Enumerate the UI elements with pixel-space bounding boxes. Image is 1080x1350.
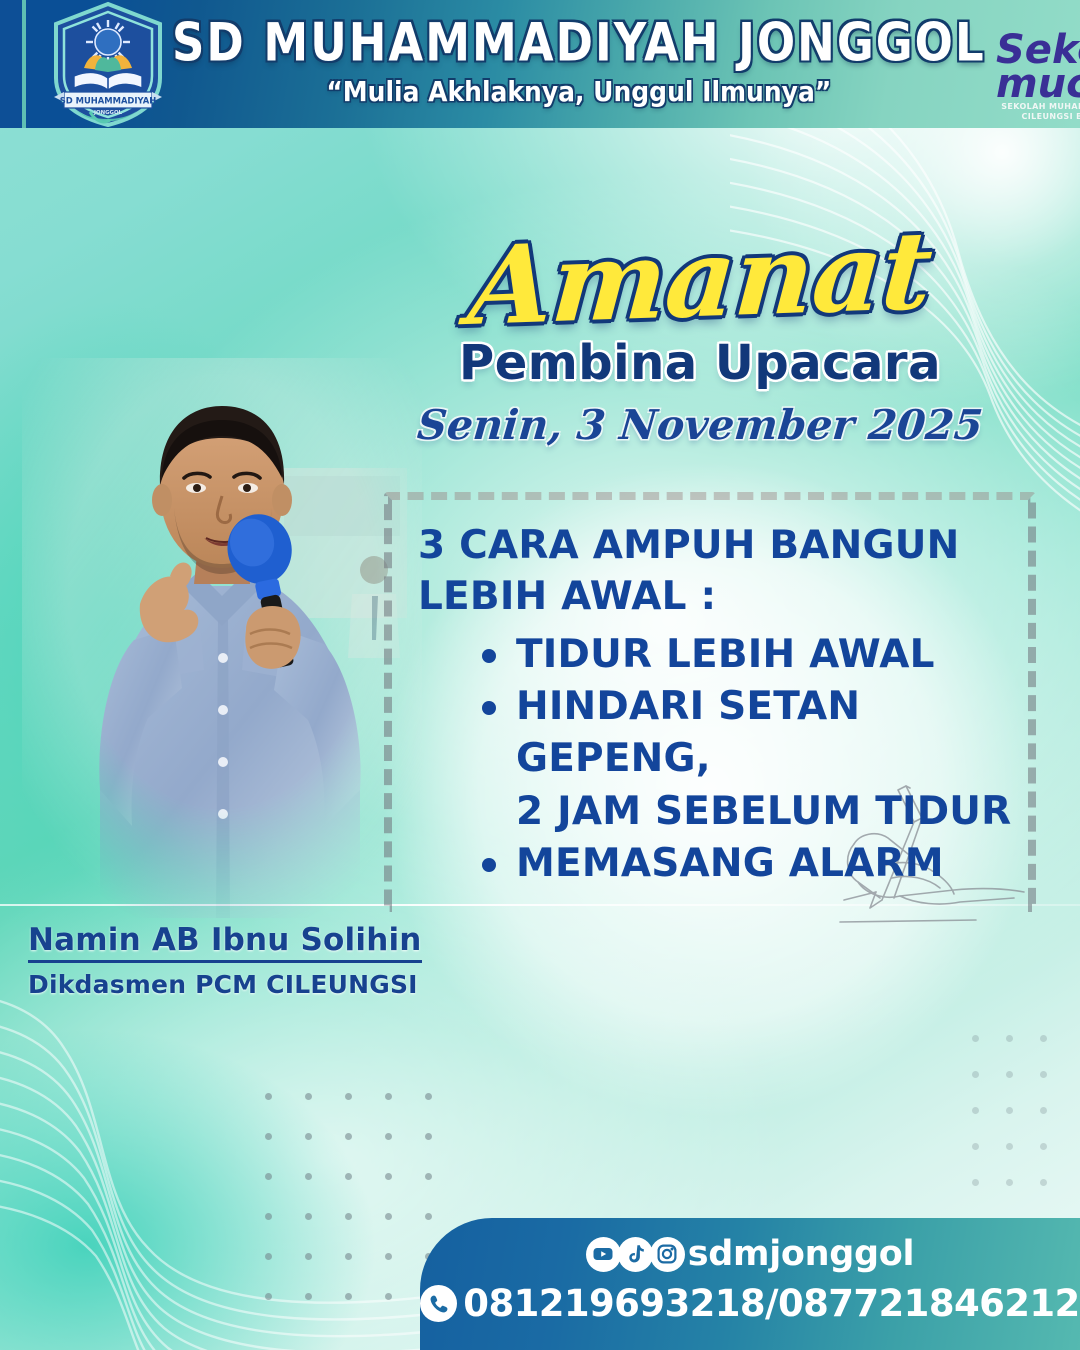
speaker-credit: Namin AB Ibnu Solihin Dikdasmen PCM CILE… (28, 922, 422, 999)
list-item-text: TIDUR LEBIH AWAL (516, 632, 935, 677)
muci-word-bottom: muci (996, 61, 1080, 107)
speaker-photo (22, 358, 422, 918)
header-left-accent (22, 0, 26, 128)
footer-contact-panel: sdmjonggol 081219693218/087721846212 (420, 1218, 1080, 1350)
list-item-continuation: 2 JAM SEBELUM TIDUR (516, 786, 1018, 838)
crest-label: SD MUHAMMADIYAH (60, 96, 157, 106)
message-heading-line-1: 3 CARA AMPUH BANGUN (418, 520, 1018, 571)
halftone-dots-right (972, 1035, 1072, 1225)
crest-sublabel: JONGGOL (93, 110, 123, 116)
title-script-amanat: Amanat (395, 215, 1004, 344)
list-item: TIDUR LEBIH AWAL (480, 629, 1018, 681)
message-heading-line-2: LEBIH AWAL : (418, 571, 1018, 622)
bullet-icon (482, 858, 496, 872)
title-block: Amanat Pembina Upacara Senin, 3 November… (400, 225, 1000, 446)
social-icon-group[interactable] (586, 1237, 682, 1272)
tiktok-icon[interactable] (618, 1237, 653, 1272)
message-block: 3 CARA AMPUH BANGUN LEBIH AWAL : TIDUR L… (418, 520, 1018, 890)
phone-icon[interactable] (420, 1285, 457, 1322)
bullet-icon (482, 701, 496, 715)
school-name: SD MUHAMMADIYAH JONGGOL (172, 17, 986, 70)
speaker-name: Namin AB Ibnu Solihin (28, 922, 422, 963)
muci-caption-1: SEKOLAH MUHAMMADIYAH (1001, 102, 1080, 111)
school-motto: “Mulia Akhlaknya, Unggul Ilmunya” (172, 77, 986, 107)
bullet-icon (482, 649, 496, 663)
footer-phone-row: 081219693218/087721846212 (420, 1282, 1080, 1325)
header-left-stripe (0, 0, 22, 128)
list-item-text: HINDARI SETAN GEPENG, (516, 684, 860, 781)
muci-caption-2: CILEUNGSI BOGOR (1021, 112, 1080, 121)
list-item: HINDARI SETAN GEPENG, 2 JAM SEBELUM TIDU… (480, 681, 1018, 838)
list-item: MEMASANG ALARM (480, 838, 1018, 890)
social-handle[interactable]: sdmjonggol (688, 1234, 914, 1274)
message-points-list: TIDUR LEBIH AWAL HINDARI SETAN GEPENG, 2… (480, 629, 1018, 890)
list-item-text: MEMASANG ALARM (516, 841, 944, 886)
speaker-role: Dikdasmen PCM CILEUNGSI (28, 970, 422, 999)
youtube-icon[interactable] (586, 1237, 621, 1272)
instagram-icon[interactable] (650, 1237, 685, 1272)
footer-social-row: sdmjonggol (420, 1234, 1080, 1274)
poster-root: SD MUHAMMADIYAH JONGGOL SD MUHAMMADIYAH … (0, 0, 1080, 1350)
header-bar: SD MUHAMMADIYAH JONGGOL SD MUHAMMADIYAH … (0, 0, 1080, 128)
header-title-group: SD MUHAMMADIYAH JONGGOL “Mulia Akhlaknya… (168, 20, 990, 105)
school-crest-icon: SD MUHAMMADIYAH JONGGOL (48, 0, 168, 128)
title-date: Senin, 3 November 2025 (398, 405, 1002, 446)
sekolahmuci-logo-icon: Sekolah muci com SEKOLAH MUHAMMADIYAH CI… (990, 5, 1080, 123)
phone-numbers[interactable]: 081219693218/087721846212 (463, 1282, 1079, 1325)
